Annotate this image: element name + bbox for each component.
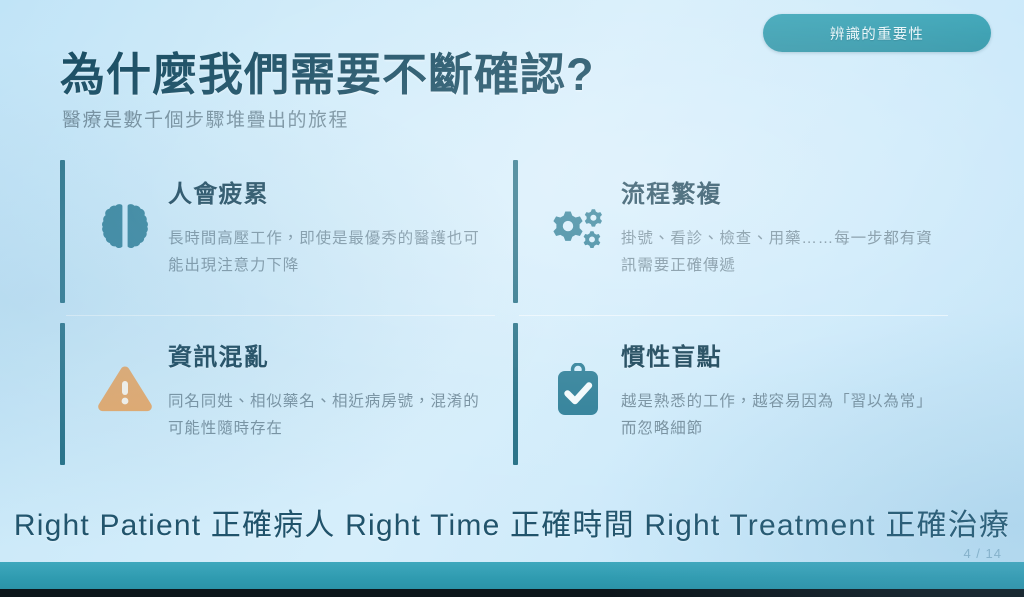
reason-card-body: 資訊混亂 同名同姓、相似藥名、相近病房號，混淆的可能性隨時存在 <box>164 337 487 442</box>
reason-card-habitual-blindspot: 慣性盲點 越是熟悉的工作，越容易因為「習以為常」而忽略細節 <box>513 315 966 478</box>
reason-card-body: 慣性盲點 越是熟悉的工作，越容易因為「習以為常」而忽略細節 <box>617 337 940 442</box>
warning-triangle-icon <box>86 347 164 433</box>
clipboard-check-icon <box>539 347 617 433</box>
footer-tagline: Right Patient 正確病人 Right Time 正確時間 Right… <box>0 500 1024 544</box>
section-badge: 辨識的重要性 <box>763 14 991 52</box>
reason-card-complex-process: 流程繁複 掛號、看診、檢查、用藥……每一步都有資訊需要正確傳遞 <box>513 152 966 315</box>
reason-card-text: 越是熟悉的工作，越容易因為「習以為常」而忽略細節 <box>621 388 940 442</box>
reason-card-text: 長時間高壓工作，即使是最優秀的醫護也可能出現注意力下降 <box>168 225 487 279</box>
reason-card-title: 資訊混亂 <box>168 337 487 372</box>
reason-card-text: 同名同姓、相似藥名、相近病房號，混淆的可能性隨時存在 <box>168 388 487 442</box>
brain-icon <box>86 184 164 270</box>
reason-card-information-chaos: 資訊混亂 同名同姓、相似藥名、相近病房號，混淆的可能性隨時存在 <box>60 315 513 478</box>
reason-card-grid: 人會疲累 長時間高壓工作，即使是最優秀的醫護也可能出現注意力下降 流程繁複 掛號… <box>60 152 966 477</box>
section-badge-label: 辨識的重要性 <box>830 23 924 44</box>
screen-bottom-edge <box>0 589 1024 597</box>
reason-card-body: 人會疲累 長時間高壓工作，即使是最優秀的醫護也可能出現注意力下降 <box>164 174 487 279</box>
reason-card-title: 流程繁複 <box>621 174 940 209</box>
bottom-accent-bar <box>0 562 1024 589</box>
page-number: 4 / 14 <box>963 546 1002 561</box>
slide-title: 為什麼我們需要不斷確認? <box>60 38 595 103</box>
reason-card-fatigue: 人會疲累 長時間高壓工作，即使是最優秀的醫護也可能出現注意力下降 <box>60 152 513 315</box>
reason-card-text: 掛號、看診、檢查、用藥……每一步都有資訊需要正確傳遞 <box>621 225 940 279</box>
reason-card-title: 人會疲累 <box>168 174 487 209</box>
presentation-slide: 辨識的重要性 為什麼我們需要不斷確認? 醫療是數千個步驟堆疊出的旅程 人會疲累 … <box>0 0 1024 597</box>
reason-card-title: 慣性盲點 <box>621 337 940 372</box>
gears-icon <box>539 184 617 270</box>
reason-card-body: 流程繁複 掛號、看診、檢查、用藥……每一步都有資訊需要正確傳遞 <box>617 174 940 279</box>
slide-subtitle: 醫療是數千個步驟堆疊出的旅程 <box>62 105 349 132</box>
